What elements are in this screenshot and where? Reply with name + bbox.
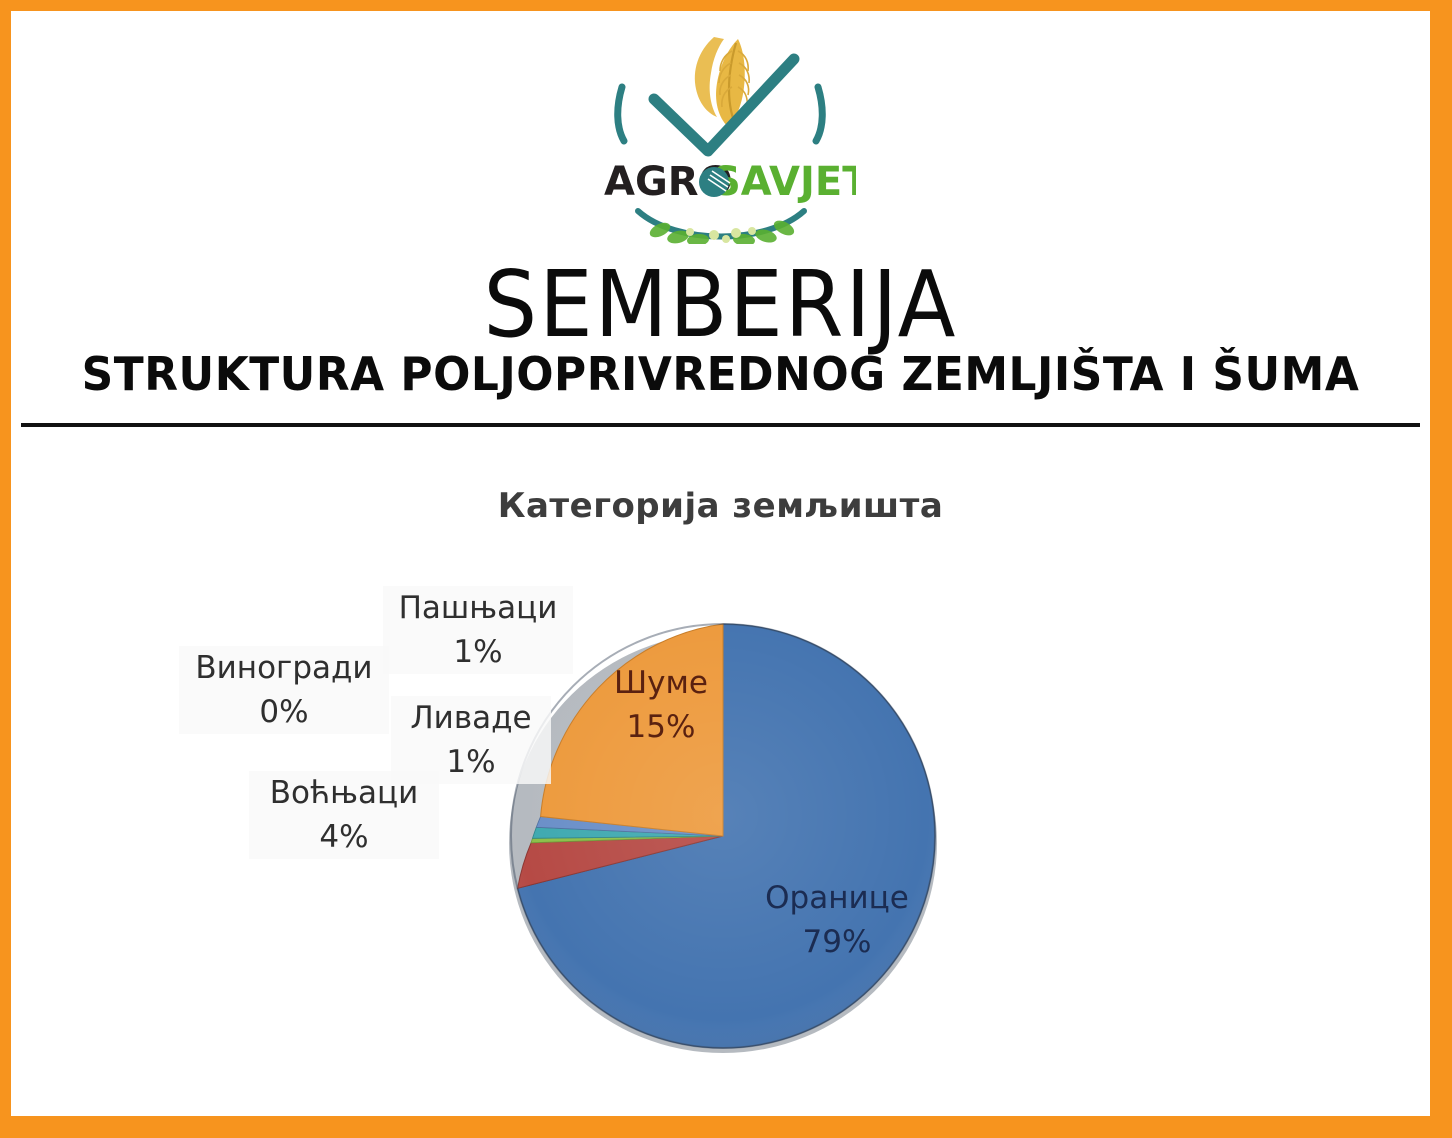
page-subtitle: STRUKTURA POLJOPRIVREDNOG ZEMLJIŠTA I ŠU… — [11, 351, 1430, 397]
logo-text-savjet: SAVJET — [712, 159, 856, 205]
logo-wordmark: AGRO SAVJET — [604, 159, 856, 205]
pie-label-pasnjaci: Пашњаци 1% — [383, 586, 573, 674]
poster-header: AGRO SAVJET — [11, 11, 1430, 425]
agrosavjet-logo: AGRO SAVJET — [586, 29, 856, 244]
pie-label-vocnjaci-category: Воћњаци — [249, 771, 439, 815]
pie-label-livade-category: Ливаде — [391, 696, 551, 740]
pie-label-oranice-category: Оранице — [737, 876, 937, 920]
pie-label-vinogradi-category: Виногради — [179, 646, 389, 690]
leaf-branch-icon — [638, 211, 804, 244]
pie-label-sume-percent: 15% — [581, 705, 741, 749]
poster-canvas: AGRO SAVJET — [11, 11, 1430, 1116]
pie-label-vinogradi-percent: 0% — [179, 690, 389, 734]
pie-label-pasnjaci-percent: 1% — [383, 630, 573, 674]
pie-label-vocnjaci: Воћњаци 4% — [249, 771, 439, 859]
pie-label-vocnjaci-percent: 4% — [249, 815, 439, 859]
header-divider — [21, 423, 1420, 427]
pie-chart: Категорија земљишта — [11, 431, 1430, 1116]
title-block: SEMBERIJA STRUKTURA POLJOPRIVREDNOG ZEML… — [11, 261, 1430, 397]
page-title: SEMBERIJA — [11, 261, 1430, 349]
pie-label-oranice: Оранице 79% — [737, 876, 937, 964]
pie-label-pasnjaci-category: Пашњаци — [383, 586, 573, 630]
pie-label-oranice-percent: 79% — [737, 920, 937, 964]
pie-graphic — [11, 431, 1430, 1116]
pie-label-vinogradi: Виногради 0% — [179, 646, 389, 734]
pie-label-sume-category: Шуме — [581, 661, 741, 705]
poster-frame: AGRO SAVJET — [0, 0, 1452, 1138]
pie-label-sume: Шуме 15% — [581, 661, 741, 749]
